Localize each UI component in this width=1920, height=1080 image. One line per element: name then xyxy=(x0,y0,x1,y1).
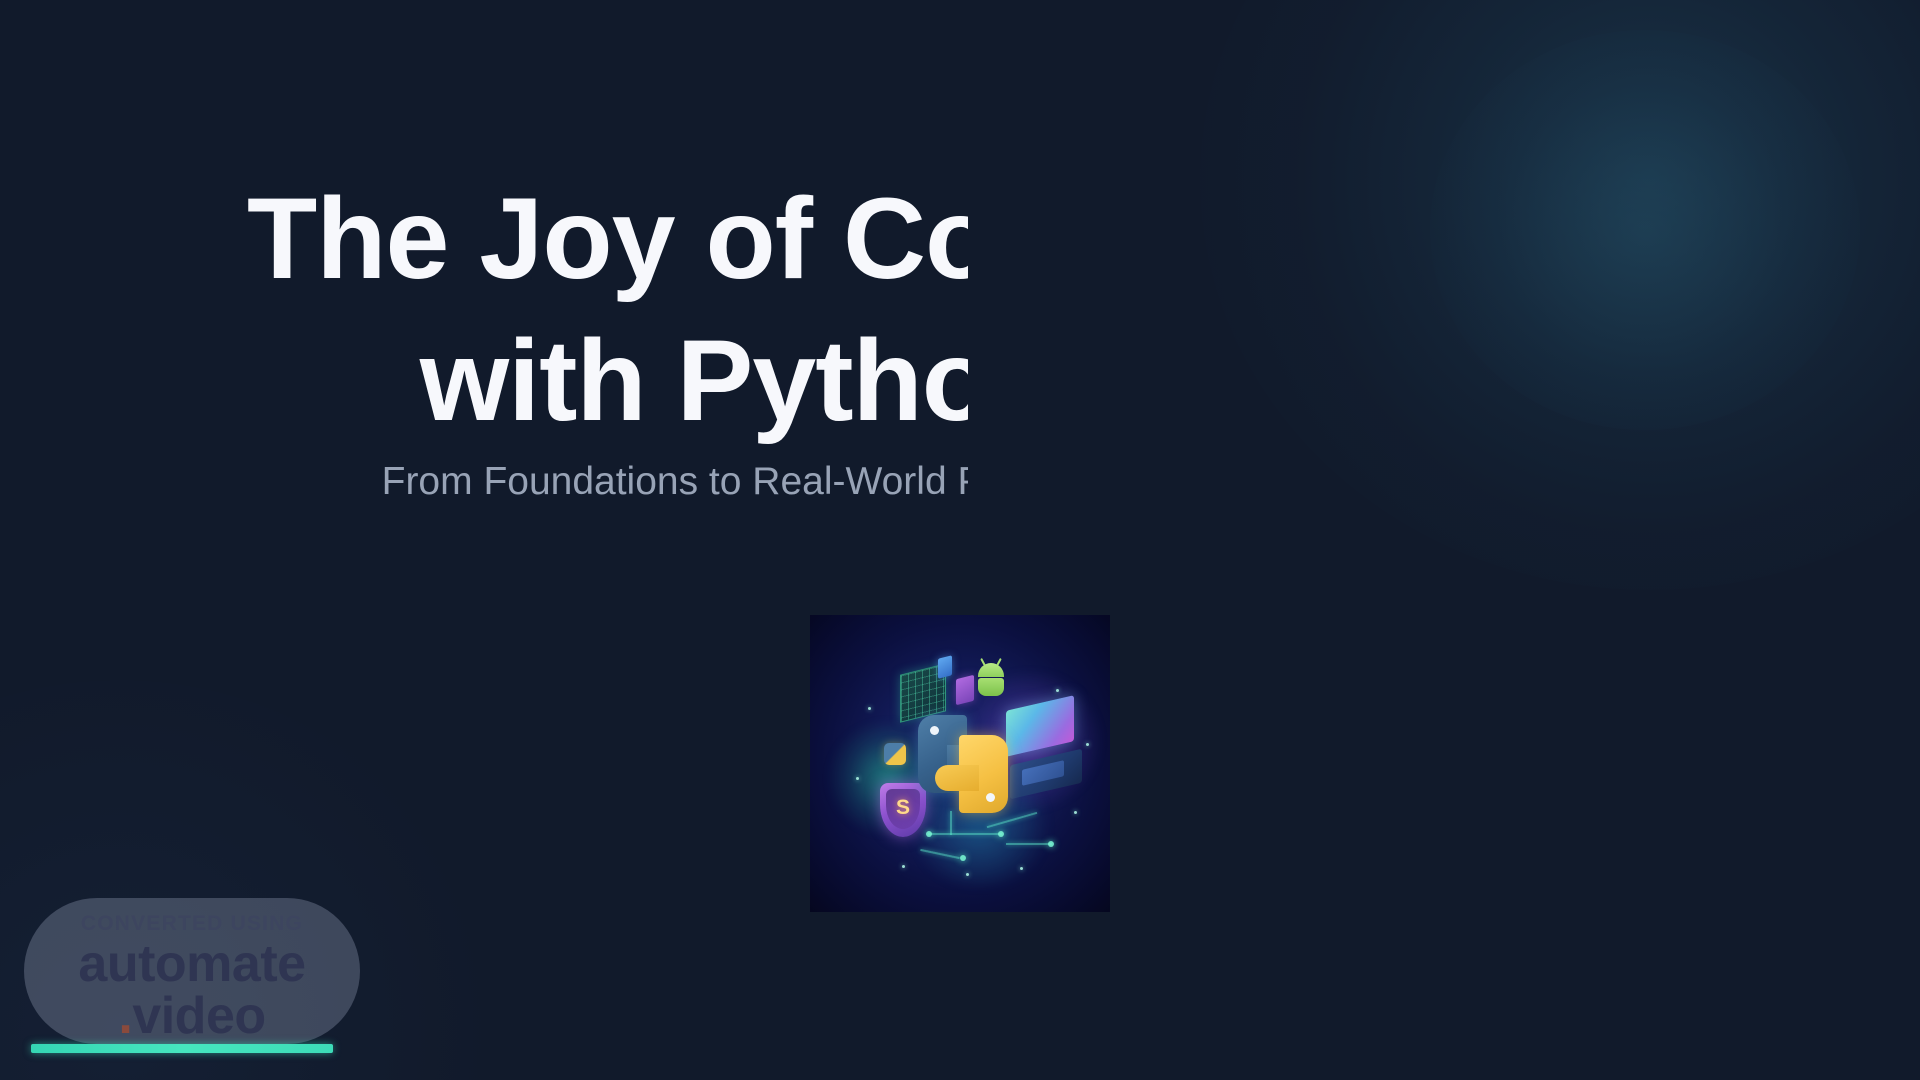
watermark-domain: video xyxy=(132,987,265,1045)
sparkle xyxy=(1020,867,1023,870)
background-glow-top-right-inner xyxy=(1430,30,1860,430)
circuit-node xyxy=(926,831,932,837)
progress-bar-fill xyxy=(31,1044,333,1053)
slide-text-clip-region: The Joy of Coding with Python From Found… xyxy=(0,0,968,1080)
python-logo-icon xyxy=(914,715,1012,813)
circuit-node xyxy=(998,831,1004,837)
python-logo-eye-bottom xyxy=(986,793,995,802)
chip-violet-icon xyxy=(956,675,974,705)
circuit-node xyxy=(1048,841,1054,847)
progress-bar-track xyxy=(31,1044,333,1053)
android-robot-icon xyxy=(976,663,1006,697)
slide-title: The Joy of Coding with Python xyxy=(0,168,968,452)
chip-blue-icon xyxy=(938,655,952,678)
sparkle xyxy=(1086,743,1089,746)
slide-text-block: The Joy of Coding with Python From Found… xyxy=(0,0,968,1080)
sparkle xyxy=(902,865,905,868)
circuit-trace xyxy=(928,833,1002,835)
android-body xyxy=(978,678,1004,696)
python-logo-eye-top xyxy=(930,726,939,735)
background-glow-top-right xyxy=(1200,0,1920,590)
watermark-domain-line: .video xyxy=(24,986,360,1046)
sparkle xyxy=(856,777,859,780)
watermark-badge: CONVERTED USING automate .video xyxy=(24,898,360,1046)
python-illustration: S xyxy=(810,615,1110,912)
circuit-node xyxy=(960,855,966,861)
python-logo-yellow-half xyxy=(959,735,1008,813)
shield-glyph: S xyxy=(896,796,910,820)
watermark-brand: automate xyxy=(24,934,360,994)
mini-python-icon xyxy=(884,743,906,765)
sparkle xyxy=(1074,811,1077,814)
illustration-layers: S xyxy=(810,615,1110,912)
circuit-trace xyxy=(950,811,952,835)
watermark-domain-dot: . xyxy=(118,987,132,1045)
sparkle xyxy=(1056,689,1059,692)
sparkle xyxy=(868,707,871,710)
watermark-pill-background xyxy=(24,898,360,1044)
background-glow-bottom-left xyxy=(0,680,500,1080)
android-head xyxy=(978,663,1004,677)
presentation-slide: The Joy of Coding with Python From Found… xyxy=(0,0,1920,1080)
sparkle xyxy=(966,873,969,876)
watermark-kicker: CONVERTED USING xyxy=(24,912,360,936)
circuit-trace xyxy=(1006,843,1052,845)
slide-subtitle: From Foundations to Real-World Projects xyxy=(0,457,968,507)
